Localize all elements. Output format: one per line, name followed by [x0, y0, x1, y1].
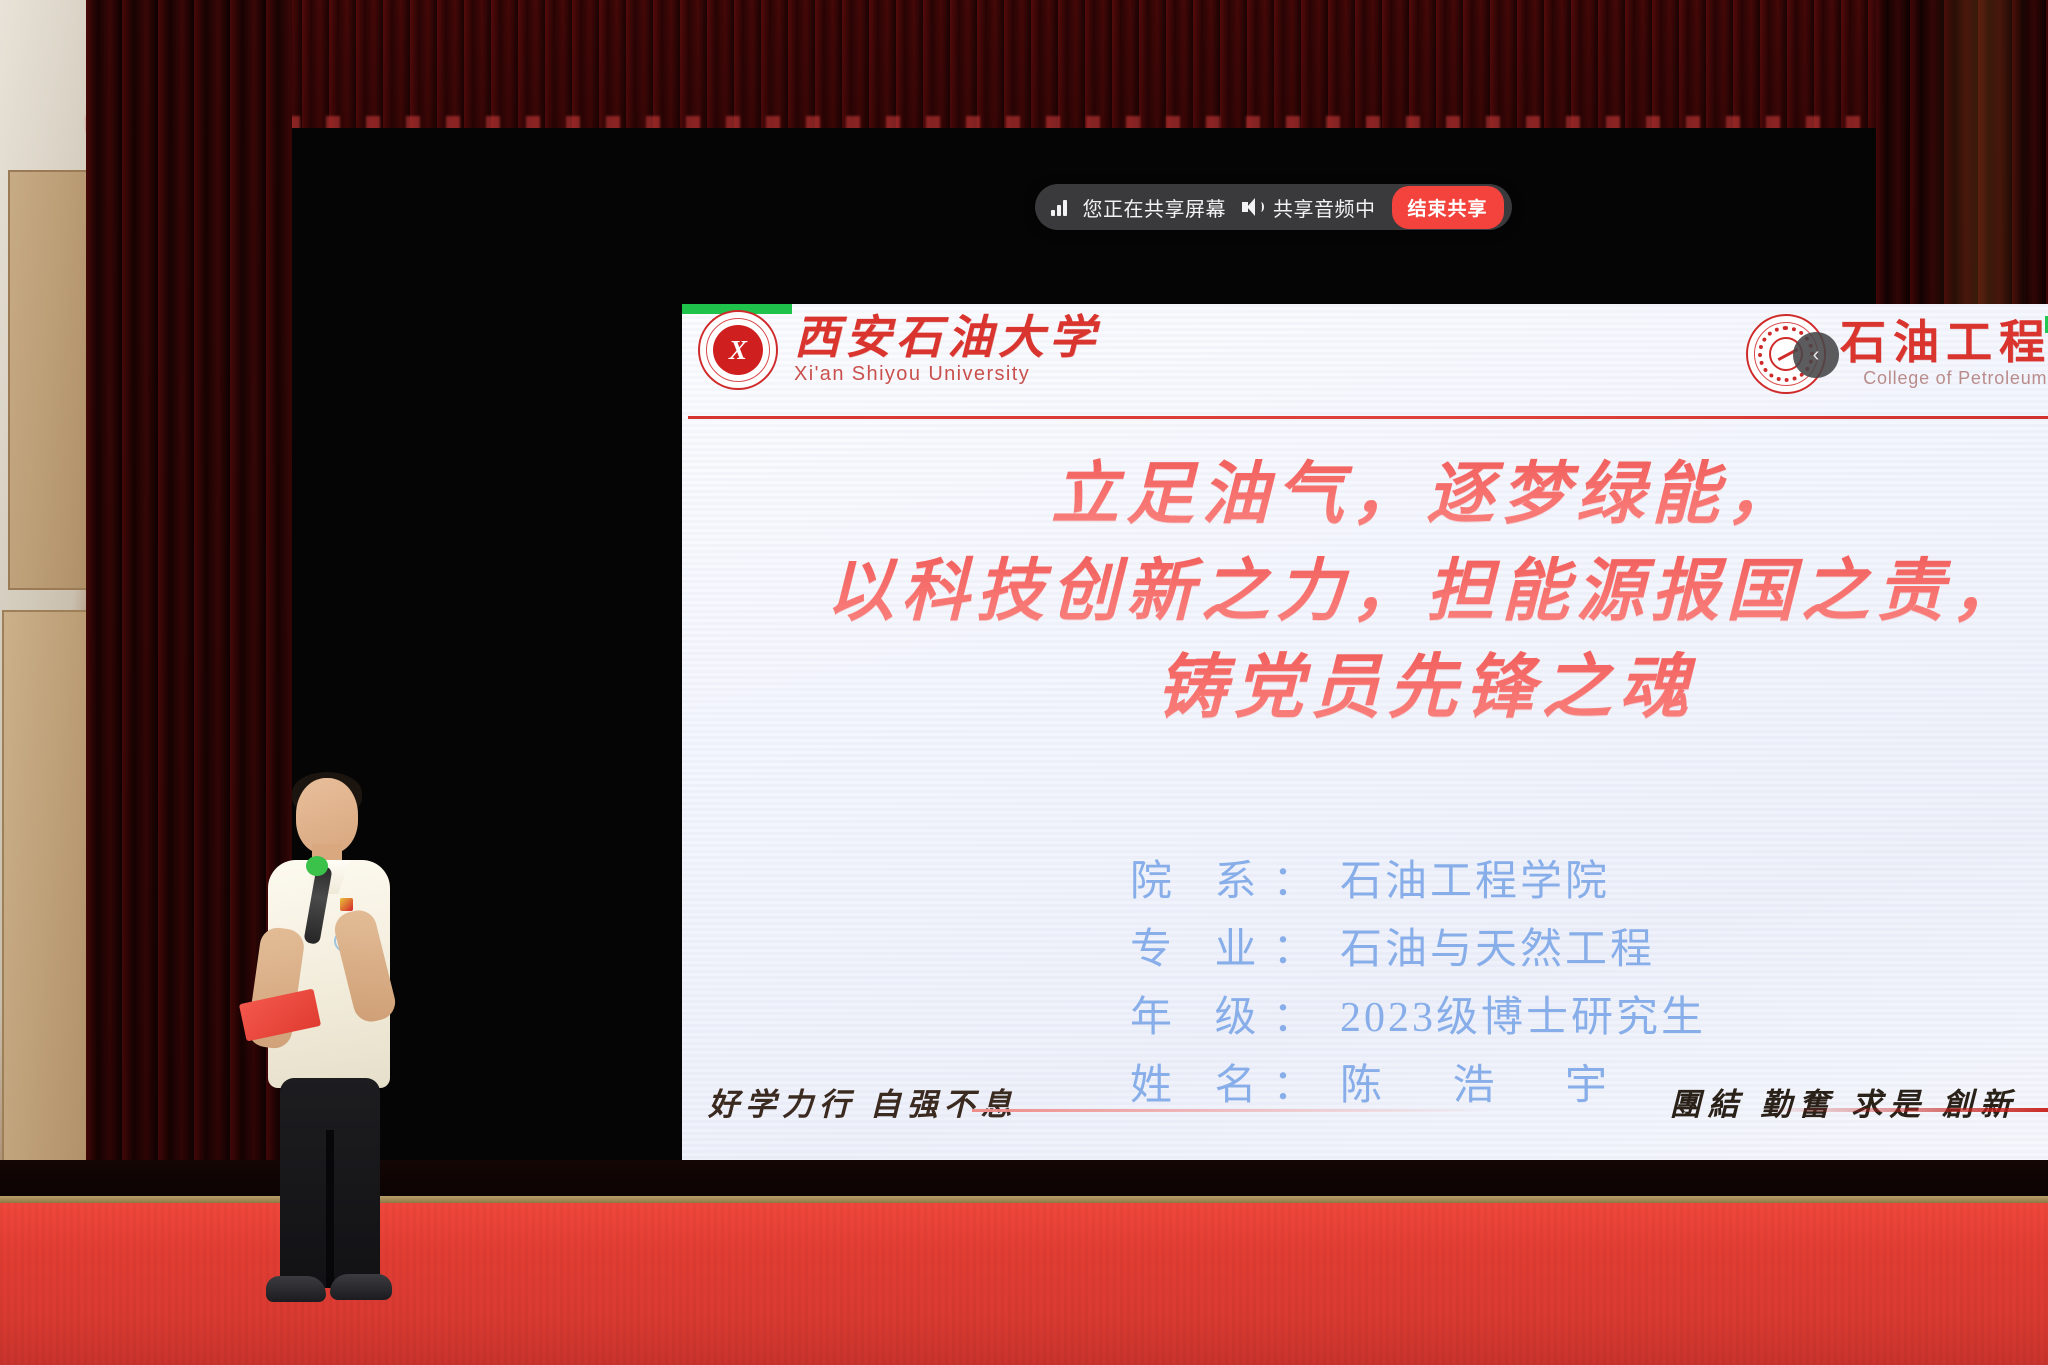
seal-monogram: X	[713, 325, 763, 375]
chevron-left-icon[interactable]: ‹	[1793, 332, 1839, 378]
motto-right: 團結 勤奮 求是 創新	[1670, 1079, 2018, 1124]
share-status-text: 您正在共享屏幕	[1083, 193, 1227, 222]
signal-bars-icon	[1051, 199, 1067, 216]
college-name-cn: 石油工程学院	[1840, 319, 2048, 368]
info-row-major: 专 业： 石油与天然工程	[1130, 916, 1706, 984]
title-line-1: 立足油气，逐梦绿能，	[682, 446, 2048, 543]
info-row-grade: 年 级： 2023级博士研究生	[1130, 984, 1706, 1052]
presenter-shoe-right	[330, 1274, 392, 1300]
presenter-person	[248, 778, 408, 1338]
slide-title: 立足油气，逐梦绿能， 以科技创新之力，担能源报国之责， 铸党员先锋之魂	[682, 446, 2048, 738]
info-row-department: 院 系： 石油工程学院	[1130, 848, 1706, 916]
share-audio-group[interactable]: 共享音频中	[1242, 193, 1376, 222]
college-name-en: College of Petroleum Engineering	[1840, 368, 2048, 389]
college-logo: 石油工程学院 College of Petroleum Engineering	[1746, 314, 2048, 394]
university-logo: X 西安石油大学 Xi'an Shiyou University	[698, 310, 1100, 390]
info-label: 年 级：	[1130, 984, 1340, 1052]
title-line-3: 铸党员先锋之魂	[682, 639, 2048, 738]
info-value: 石油与天然工程	[1340, 916, 1655, 984]
speaker-icon	[1242, 198, 1264, 216]
footer-divider-left	[972, 1109, 1492, 1112]
slide-header: X 西安石油大学 Xi'an Shiyou University 石油工程学	[682, 304, 2048, 416]
microphone-head	[306, 856, 328, 876]
presenter-shoe-left	[266, 1276, 326, 1302]
university-seal-icon: X	[698, 310, 778, 390]
footer-divider-right	[1764, 1108, 2048, 1112]
stage-curtain-top	[86, 0, 1962, 132]
presenter-head	[296, 778, 358, 854]
info-value: 2023级博士研究生	[1340, 984, 1706, 1052]
screen-share-toolbar[interactable]: 您正在共享屏幕 共享音频中 结束共享	[1035, 184, 1512, 230]
stage-scene: X 西安石油大学 Xi'an Shiyou University 石油工程学	[0, 0, 2048, 1365]
motto-left: 好学力行 自强不息	[708, 1079, 1018, 1124]
info-label: 院 系：	[1130, 848, 1340, 916]
end-share-button[interactable]: 结束共享	[1392, 186, 1504, 229]
title-line-2: 以科技创新之力，担能源报国之责，	[682, 543, 2048, 640]
projection-screen: X 西安石油大学 Xi'an Shiyou University 石油工程学	[292, 128, 1876, 1160]
presenter-badge	[340, 898, 353, 911]
info-value: 石油工程学院	[1340, 848, 1610, 916]
share-audio-text: 共享音频中	[1273, 193, 1376, 222]
slide-footer: 好学力行 自强不息 團結 勤奮 求是 創新	[682, 1066, 2048, 1174]
header-divider	[688, 416, 2048, 419]
university-name-cn: 西安石油大学	[794, 314, 1100, 363]
info-label: 专 业：	[1130, 916, 1340, 984]
presentation-slide: X 西安石油大学 Xi'an Shiyou University 石油工程学	[682, 304, 2048, 1174]
presenter-leg-gap	[326, 1130, 334, 1288]
university-name-en: Xi'an Shiyou University	[794, 363, 1100, 386]
